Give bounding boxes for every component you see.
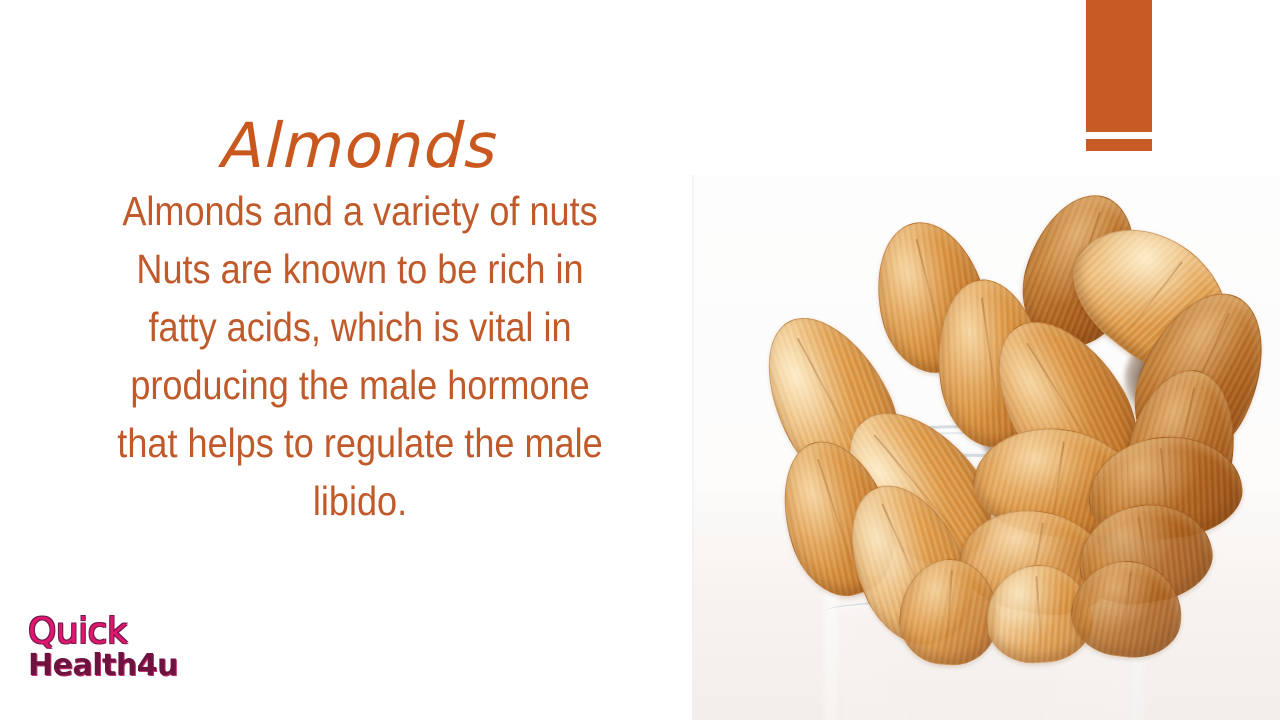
body-line: Almonds and a variety of nuts [80, 182, 640, 240]
body-paragraph: Almonds and a variety of nuts Nuts are k… [70, 182, 651, 530]
body-line: fatty acids, which is vital in [80, 298, 640, 356]
brand-logo: Quick Health4u [28, 614, 178, 681]
page-title: Almonds [29, 110, 692, 182]
logo-primary-text: Quick [28, 614, 178, 650]
body-line: producing the male hormone [80, 356, 640, 414]
body-line: Nuts are known to be rich in [80, 240, 640, 298]
slide-canvas: Almonds Almonds and a variety of nuts Nu… [0, 0, 1280, 720]
photo-left-seam [692, 175, 695, 720]
exclamation-dot [1086, 139, 1152, 151]
exclamation-stem [1086, 0, 1152, 132]
almond-pile [752, 193, 1252, 673]
body-line: that helps to regulate the male [80, 414, 640, 472]
logo-secondary-text: Health4u [28, 651, 178, 681]
body-line: libido. [80, 472, 640, 530]
exclamation-bar-icon [1086, 0, 1152, 155]
almond-photo [692, 175, 1280, 720]
text-column: Almonds Almonds and a variety of nuts Nu… [30, 110, 690, 530]
